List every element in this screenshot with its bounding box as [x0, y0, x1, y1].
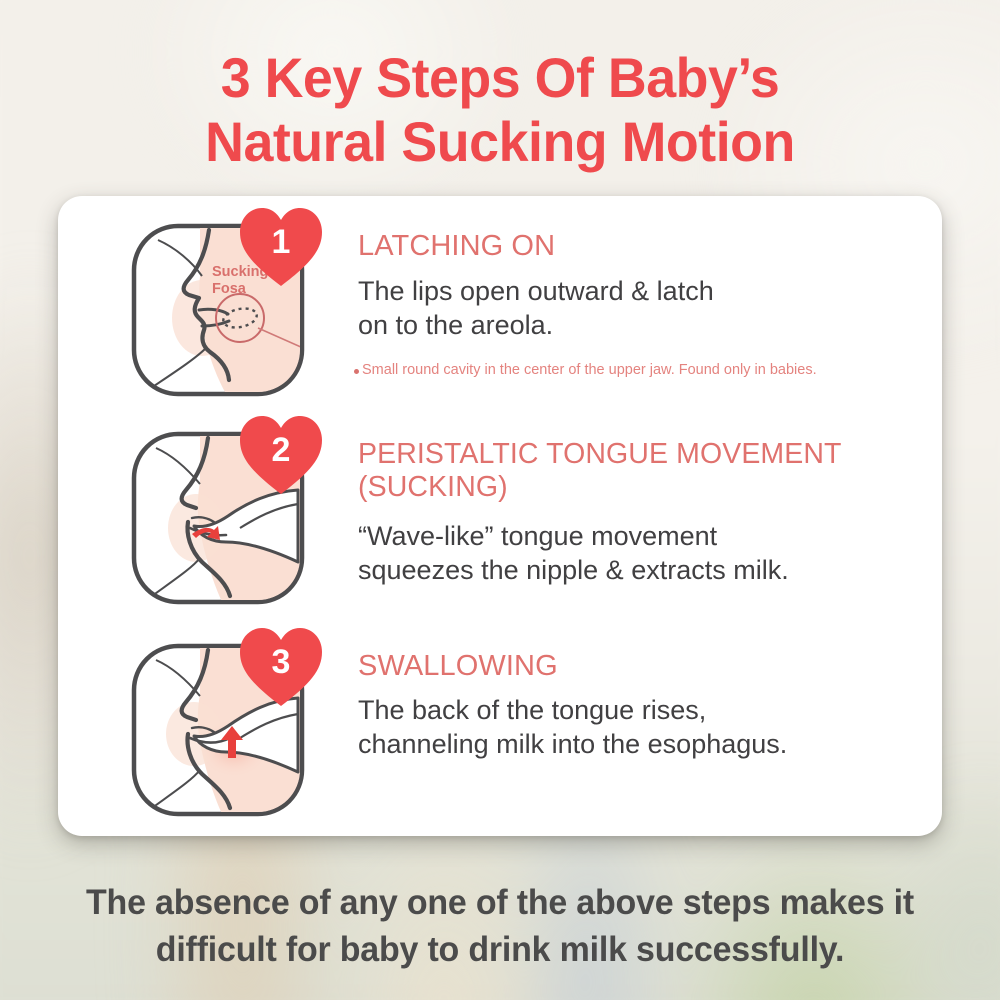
step-number-1: 1: [238, 206, 324, 288]
step-text-1: LATCHING ON The lips open outward & latc…: [358, 230, 918, 343]
page-title-line-2: Natural Sucking Motion: [20, 110, 980, 174]
step-heading-3: SWALLOWING: [358, 650, 918, 684]
step-badge-3: 3: [238, 626, 324, 708]
step-item-2: 2 PERISTALTIC TONGUE MOVEMENT (SUCKING) …: [58, 418, 942, 623]
step-body-2: “Wave-like” tongue movement squeezes the…: [358, 519, 918, 588]
step-badge-2: 2: [238, 414, 324, 496]
step-heading-2: PERISTALTIC TONGUE MOVEMENT (SUCKING): [358, 438, 918, 505]
footnote-bullet-icon: [354, 369, 359, 374]
page-title: 3 Key Steps Of Baby’s Natural Sucking Mo…: [0, 46, 1000, 174]
page-title-line-1: 3 Key Steps Of Baby’s: [20, 46, 980, 110]
bottom-caption-line-2: difficult for baby to drink milk success…: [15, 927, 985, 974]
step-number-2: 2: [238, 414, 324, 496]
step-text-2: PERISTALTIC TONGUE MOVEMENT (SUCKING) “W…: [358, 438, 918, 588]
bottom-caption-line-1: The absence of any one of the above step…: [15, 880, 985, 927]
step-body-1: The lips open outward & latch on to the …: [358, 274, 918, 343]
steps-card: Sucking Fosa 1 LATCHING ON The lips open…: [58, 196, 942, 836]
step-text-3: SWALLOWING The back of the tongue rises,…: [358, 650, 918, 762]
step-body-3: The back of the tongue rises, channeling…: [358, 693, 918, 762]
bottom-caption: The absence of any one of the above step…: [0, 880, 1000, 973]
footnote-text: Small round cavity in the center of the …: [362, 362, 817, 378]
step-heading-1: LATCHING ON: [358, 230, 918, 264]
step-footnote-1: Small round cavity in the center of the …: [362, 362, 932, 379]
step-item-1: Sucking Fosa 1 LATCHING ON The lips open…: [58, 210, 942, 415]
step-badge-1: 1: [238, 206, 324, 288]
step-number-3: 3: [238, 626, 324, 708]
step-item-3: 3 SWALLOWING The back of the tongue rise…: [58, 630, 942, 835]
